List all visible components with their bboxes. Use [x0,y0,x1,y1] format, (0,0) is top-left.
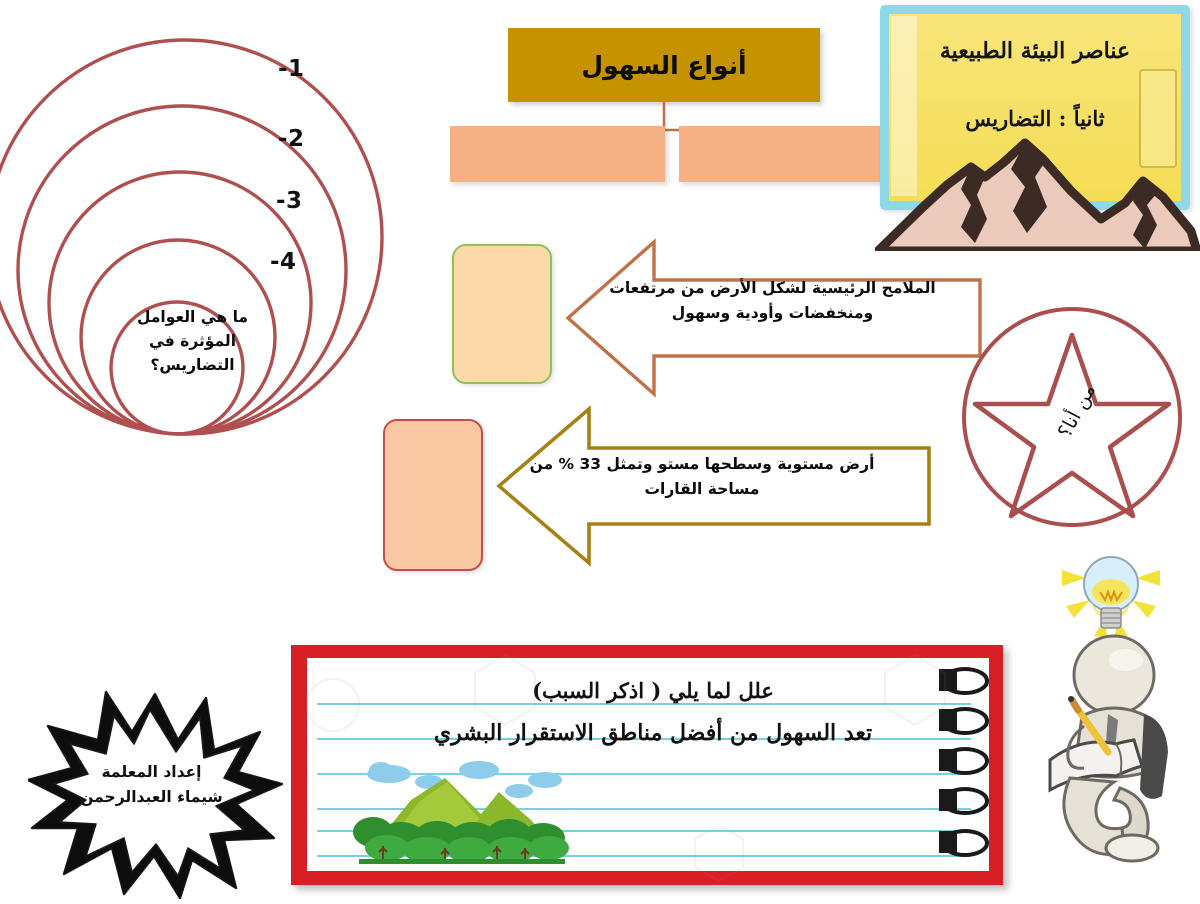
figure-shoe [1106,835,1158,861]
figure-head [1074,636,1154,714]
flowchart-title-box: أنواع السهول [508,28,820,102]
thinking-student-illustration [1022,548,1200,883]
circle-label-1: -1 [278,56,305,82]
teacher-credit-text: إعداد المعلمة شيماء العبدالرحمن [64,760,239,810]
circle-label-2: -2 [278,126,305,152]
callout1-text: الملامح الرئيسية لشكل الأرض من مرتفعات و… [600,276,945,326]
callout1-answer-box[interactable] [452,244,552,384]
notebook: علل لما يلي ( اذكر السبب) تعد السهول من … [291,645,1003,885]
notebook-line-1: علل لما يلي ( اذكر السبب) [363,678,943,703]
notebook-rule-1 [317,703,971,705]
concentric-circles-svg [0,0,400,460]
notebook-line-2: تعد السهول من أفضل مناطق الاستقرار البشر… [363,720,943,746]
notebook-page: علل لما يلي ( اذكر السبب) تعد السهول من … [307,658,989,871]
spiral-rings [939,669,987,855]
hill-ground [359,859,565,864]
teacher-credit-line-2: شيماء العبدالرحمن [64,785,239,810]
concentric-center-question: ما هي العوامل المؤثرة في التضاريس؟ [130,305,255,377]
flowchart-child-box-right[interactable] [679,126,894,182]
title-card-line-1: عناصر البيئة الطبيعية [889,38,1181,64]
flowchart-title-label: أنواع السهول [581,51,746,80]
figure-head-highlight [1109,649,1143,671]
flowchart-child-box-left[interactable] [450,126,665,182]
concentric-circles-diagram: -1 -2 -3 -4 ما هي العوامل المؤثرة في الت… [0,0,400,460]
tree-canopy-row-light [365,835,569,863]
teacher-credit-line-1: إعداد المعلمة [64,760,239,785]
green-hills-illustration [349,758,579,866]
callout2-answer-box[interactable] [383,419,483,571]
student-figure [1050,636,1168,861]
thinker-svg [1022,548,1200,883]
circle-label-4: -4 [270,249,297,275]
slide-canvas: -1 -2 -3 -4 ما هي العوامل المؤثرة في الت… [0,0,1200,900]
circle-ring-2 [18,106,346,434]
circle-label-3: -3 [276,188,303,214]
teacher-credit-burst: إعداد المعلمة شيماء العبدالرحمن [28,688,283,900]
callout2-text: أرض مستوية وسطحها مستو وتمثل 33 % من مسا… [512,452,892,502]
clouds [367,761,562,798]
mountains-illustration [875,115,1200,255]
notebook-spiral-binding [931,665,1011,880]
figure-backpack [1140,714,1168,799]
who-am-i-badge: من أنا؟ [955,300,1190,535]
title-card-group: عناصر البيئة الطبيعية ثانياً : التضاريس [880,5,1198,255]
